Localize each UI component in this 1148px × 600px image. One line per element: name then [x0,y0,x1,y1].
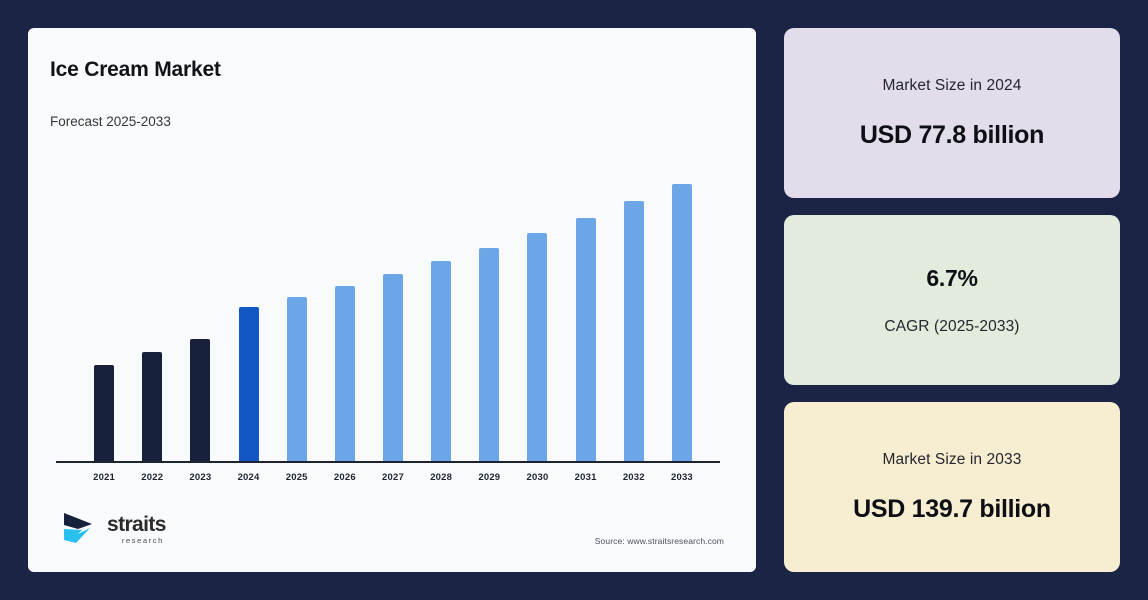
bar-slot [658,163,706,463]
bar-slot [80,163,128,463]
stat-card-market-size-2033: Market Size in 2033USD 139.7 billion [784,402,1120,572]
bar-2023 [190,339,210,463]
x-axis-label-2022: 2022 [128,472,176,483]
logo-wordmark: straits research [107,514,166,545]
bar-series [48,163,732,463]
x-axis-label-2021: 2021 [80,472,128,483]
bar-slot [513,163,561,463]
stat-card-value: USD 139.7 billion [853,495,1051,524]
bar-2027 [383,274,403,463]
bar-2030 [527,233,547,463]
bar-2032 [624,201,644,463]
stat-card-column: Market Size in 2024USD 77.8 billion6.7%C… [784,28,1120,572]
logo-subtitle: research [122,537,166,545]
x-axis-label-2026: 2026 [321,472,369,483]
bar-slot [224,163,272,463]
x-axis-label-2032: 2032 [610,472,658,483]
bar-2025 [287,297,307,463]
chart-subtitle: Forecast 2025-2033 [50,114,732,129]
x-axis-label-2031: 2031 [562,472,610,483]
bar-2021 [94,365,114,463]
bar-slot [465,163,513,463]
bar-slot [176,163,224,463]
x-axis-line [56,461,720,463]
stat-card-value: 6.7% [926,265,977,292]
bar-2031 [576,218,596,463]
stat-card-value: USD 77.8 billion [860,121,1044,150]
bar-slot [128,163,176,463]
bar-2022 [142,352,162,463]
bar-slot [321,163,369,463]
x-axis-label-2033: 2033 [658,472,706,483]
bar-slot [562,163,610,463]
stat-card-caption: Market Size in 2033 [883,451,1022,469]
plot-area [48,133,732,463]
bar-2033 [672,184,692,463]
panel-footer: straits research Source: www.straitsrese… [48,507,732,556]
chart-panel: Ice Cream Market Forecast 2025-2033 2021… [28,28,756,572]
straits-research-logo: straits research [58,507,166,552]
x-axis-label-2028: 2028 [417,472,465,483]
bar-2029 [479,248,499,463]
logo-name: straits [107,514,166,535]
x-axis-label-2030: 2030 [513,472,561,483]
stat-card-caption: Market Size in 2024 [883,77,1022,95]
source-attribution: Source: www.straitsresearch.com [595,536,724,552]
bar-2026 [335,286,355,463]
bar-slot [610,163,658,463]
x-axis-label-2025: 2025 [273,472,321,483]
bar-2024 [239,307,259,463]
bar-slot [369,163,417,463]
stat-card-caption: CAGR (2025-2033) [884,318,1019,336]
bar-slot [417,163,465,463]
bar-2028 [431,261,451,463]
stat-card-market-size-2024: Market Size in 2024USD 77.8 billion [784,28,1120,198]
stat-card-cagr: 6.7%CAGR (2025-2033) [784,215,1120,385]
chart-title: Ice Cream Market [50,58,732,82]
arrow-chevron-icon [58,507,100,552]
bar-slot [273,163,321,463]
x-axis-label-2027: 2027 [369,472,417,483]
x-axis-label-2024: 2024 [224,472,272,483]
x-axis-label-2023: 2023 [176,472,224,483]
x-axis-label-2029: 2029 [465,472,513,483]
x-axis-labels: 2021202220232024202520262027202820292030… [48,472,732,483]
